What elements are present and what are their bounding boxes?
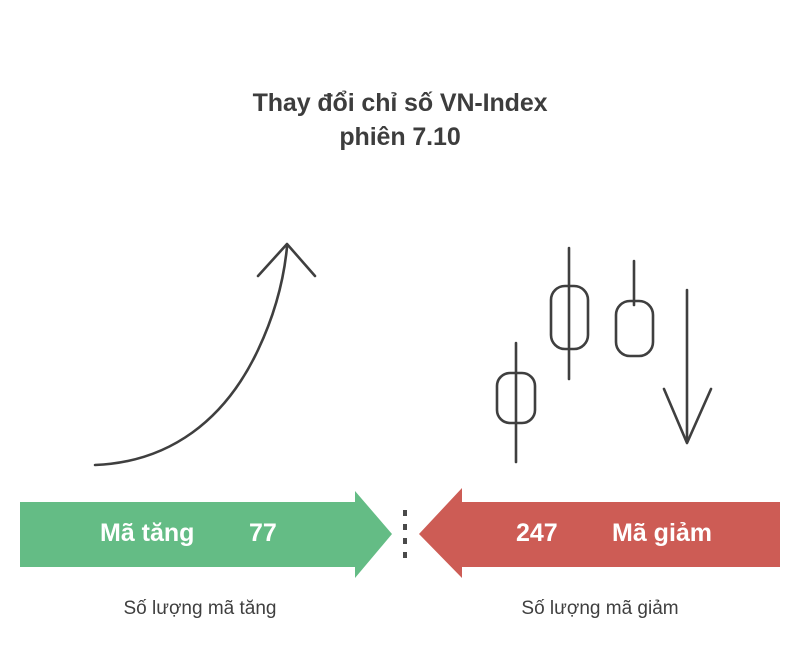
decliners-label: Mã giảm (612, 518, 712, 548)
page-title: Thay đổi chỉ số VN-Index phiên 7.10 (0, 86, 800, 154)
candlestick-chart-icon (497, 248, 653, 462)
advancers-label: Mã tăng (100, 518, 194, 548)
decliners-value: 247 (516, 518, 558, 548)
advancers-value: 77 (249, 518, 277, 548)
title-line-1: Thay đổi chỉ số VN-Index (0, 86, 800, 120)
down-arrow-icon (664, 290, 711, 443)
advancers-arrow-shape (20, 491, 392, 578)
vnindex-infographic: Thay đổi chỉ số VN-Index phiên 7.10 (0, 0, 800, 659)
title-line-2: phiên 7.10 (0, 120, 800, 154)
advancers-caption: Số lượng mã tăng (0, 597, 400, 621)
rising-curve-arrow-icon (95, 244, 315, 465)
comparison-banner: Mã tăng 77 247 Mã giảm (0, 480, 800, 590)
decliners-caption: Số lượng mã giảm (400, 597, 800, 621)
decliners-arrow-shape (419, 488, 780, 578)
